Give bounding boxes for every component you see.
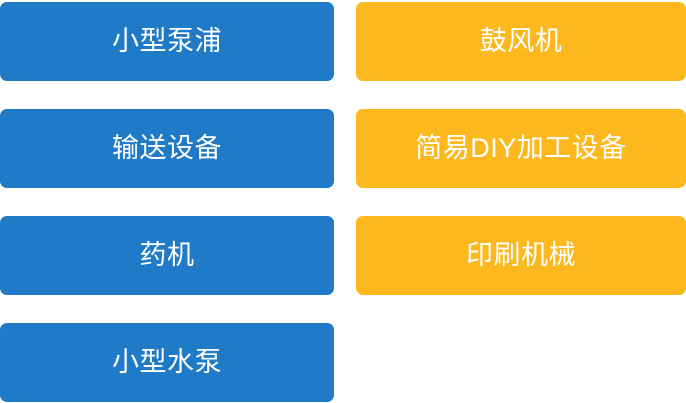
category-button-conveying-equipment[interactable]: 输送设备: [0, 109, 334, 188]
category-button-simple-diy-processing-equipment[interactable]: 简易DIY加工设备: [356, 109, 686, 188]
category-button-label: 输送设备: [112, 135, 222, 162]
category-button-label: 小型水泵: [112, 349, 222, 376]
category-button-label: 印刷机械: [466, 242, 576, 269]
category-button-label: 药机: [140, 242, 195, 269]
category-button-small-pump[interactable]: 小型泵浦: [0, 2, 334, 81]
category-button-blower[interactable]: 鼓风机: [356, 2, 686, 81]
category-button-grid: 小型泵浦 输送设备 药机 小型水泵 鼓风机 简易DIY加工设备 印刷机械: [0, 0, 686, 403]
category-button-label: 小型泵浦: [112, 28, 222, 55]
category-button-label: 鼓风机: [480, 28, 563, 55]
category-button-pharmaceutical-machine[interactable]: 药机: [0, 216, 334, 295]
category-button-printing-machinery[interactable]: 印刷机械: [356, 216, 686, 295]
category-button-small-water-pump[interactable]: 小型水泵: [0, 323, 334, 402]
category-button-label: 简易DIY加工设备: [415, 135, 627, 162]
